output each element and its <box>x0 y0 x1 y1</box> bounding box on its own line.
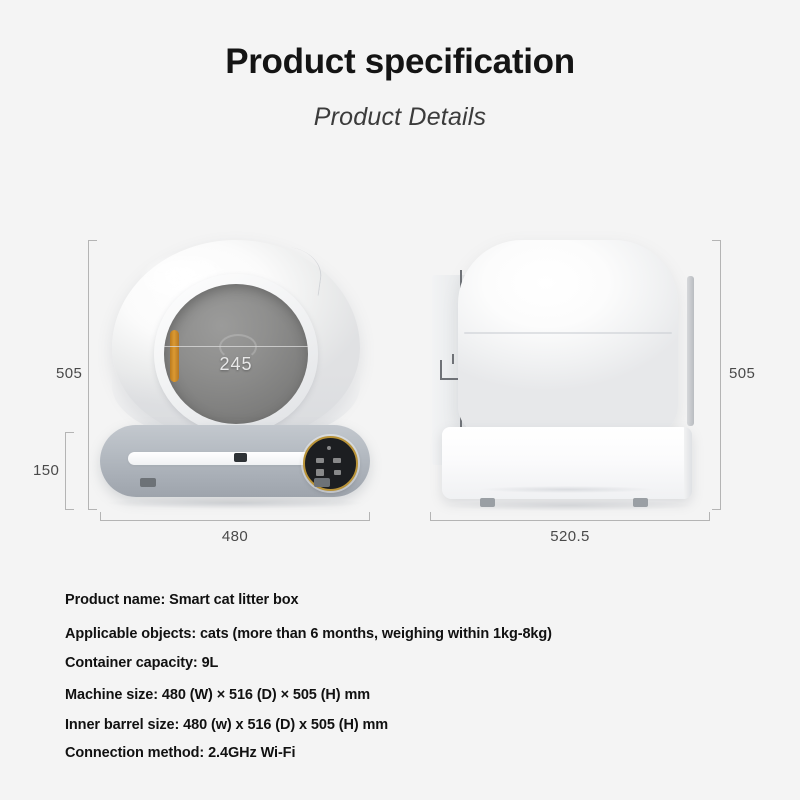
drawer-bottom-lip <box>482 486 652 493</box>
dial-option-icon-3 <box>316 469 324 476</box>
back-panel-notch <box>440 360 460 380</box>
side-foot-right <box>633 498 648 507</box>
dimension-label-side-height: 505 <box>729 365 755 382</box>
page-subtitle: Product Details <box>0 103 800 132</box>
dial-option-icon-2 <box>333 458 341 463</box>
side-foot-left <box>480 498 495 507</box>
side-base-drawer <box>442 427 692 499</box>
spec-product-name: Product name: Smart cat litter box <box>65 592 299 609</box>
dimension-bracket-base-height <box>65 432 74 510</box>
dimension-bracket-side-height <box>712 240 721 510</box>
side-body-shell <box>458 240 678 436</box>
spec-container-capacity: Container capacity: 9L <box>65 655 218 672</box>
spec-inner-barrel-size: Inner barrel size: 480 (w) x 516 (D) x 5… <box>65 717 388 734</box>
product-specification-page: Product specification Product Details 24… <box>0 0 800 800</box>
side-body-seam <box>464 332 672 334</box>
page-title: Product specification <box>0 42 800 82</box>
opening-ring-assembly: 245 <box>154 274 318 434</box>
dimension-label-base-height: 150 <box>33 462 59 479</box>
side-rail <box>687 276 694 426</box>
dimension-bracket-front-height <box>88 240 97 510</box>
product-front-view-illustration: 245 <box>100 240 370 515</box>
dial-option-icon-4 <box>334 470 341 475</box>
dimension-bracket-front-width <box>100 512 370 521</box>
control-panel-dial[interactable] <box>303 436 358 491</box>
dimension-bracket-side-width <box>430 512 710 521</box>
drawer-right-edge <box>684 427 692 499</box>
spec-machine-size: Machine size: 480 (W) × 516 (D) × 505 (H… <box>65 687 370 704</box>
dial-power-icon <box>327 446 331 450</box>
drum-interior: 245 <box>164 284 308 424</box>
front-view-ground-shadow <box>108 497 362 509</box>
drum-display-value: 245 <box>164 354 308 375</box>
product-side-view-illustration <box>432 240 700 515</box>
base-foot-right <box>314 478 330 487</box>
dimension-label-side-width: 520.5 <box>430 528 710 545</box>
dimension-label-front-height: 505 <box>56 365 82 382</box>
spec-connection-method: Connection method: 2.4GHz Wi-Fi <box>65 745 295 762</box>
base-unit <box>100 425 370 497</box>
base-foot-left <box>140 478 156 487</box>
dial-option-icon-1 <box>316 458 324 463</box>
sensor-icon <box>234 453 247 462</box>
spec-applicable-objects: Applicable objects: cats (more than 6 mo… <box>65 626 552 643</box>
base-drawer-groove <box>128 452 318 465</box>
dimension-label-front-width: 480 <box>0 528 470 545</box>
